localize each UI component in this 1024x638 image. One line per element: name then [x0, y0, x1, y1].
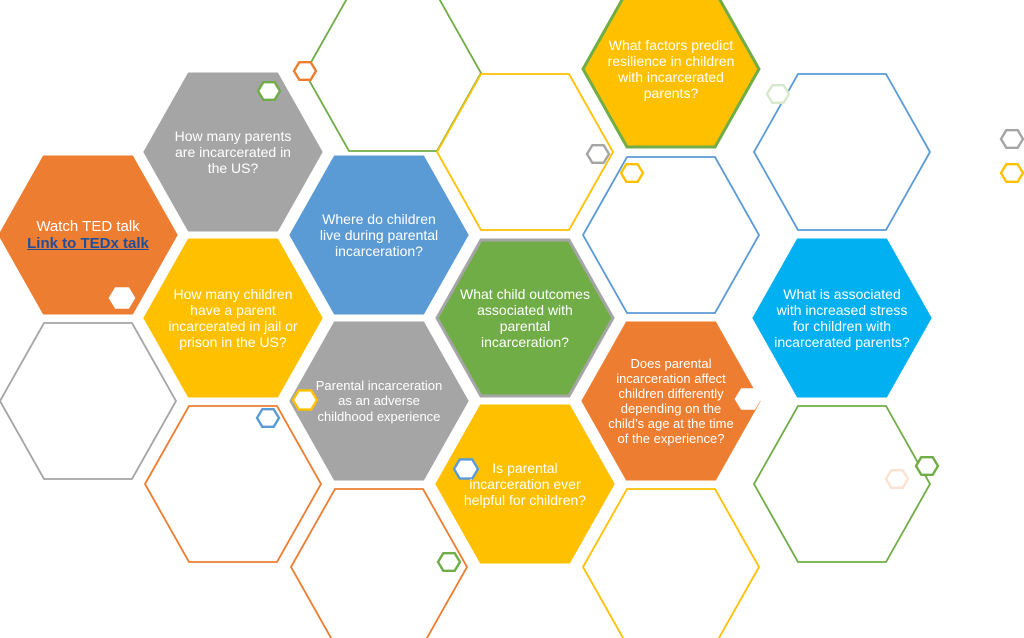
marker-white-on-orange-hex[interactable]	[110, 288, 134, 307]
hexagon-diagram-canvas: Watch TED talkLink to TEDx talkHow many …	[0, 0, 1024, 638]
marker-orange-top-left[interactable]	[294, 62, 316, 80]
marker-gold-upper-center[interactable]	[621, 164, 643, 182]
is-parental-incarceration-helpful-hex[interactable]	[437, 406, 613, 562]
empty-hex-gold-top-center[interactable]	[437, 74, 613, 230]
where-do-children-live-hex[interactable]	[291, 157, 467, 313]
does-parental-incarceration-age-hex[interactable]	[583, 323, 759, 479]
empty-hex-blue-upper[interactable]	[583, 157, 759, 313]
marker-gray-far-right[interactable]	[1001, 130, 1023, 148]
what-factors-predict-resilience-hex[interactable]	[583, 0, 759, 147]
tedx-talk-link[interactable]: Link to TEDx talk	[19, 235, 156, 252]
what-child-outcomes-hex[interactable]	[437, 240, 613, 396]
marker-faint-green-upper-right[interactable]	[767, 85, 789, 103]
how-many-children-hex[interactable]	[145, 240, 321, 396]
marker-green-on-gray-hex[interactable]	[258, 82, 280, 100]
marker-green-right-edge[interactable]	[916, 457, 938, 475]
empty-hex-orange-lower-left[interactable]	[145, 406, 321, 562]
marker-blue-on-gold-hex[interactable]	[454, 459, 478, 478]
marker-white-on-orange-right-hex[interactable]	[736, 389, 760, 408]
marker-gray-top-center[interactable]	[587, 145, 609, 163]
what-is-associated-stress-hex[interactable]	[754, 240, 930, 396]
marker-gold-on-gray-hex[interactable]	[293, 390, 317, 409]
empty-hex-gold-bottom[interactable]	[583, 489, 759, 638]
marker-gold-far-right[interactable]	[1001, 164, 1023, 182]
marker-green-bottom-center[interactable]	[438, 553, 460, 571]
marker-blue-lower-left[interactable]	[257, 409, 279, 427]
empty-hex-green-top[interactable]	[305, 0, 481, 151]
how-many-parents-hex[interactable]	[145, 74, 321, 230]
marker-faint-orange-lower-right[interactable]	[886, 470, 908, 488]
empty-hex-gray-left[interactable]	[0, 323, 176, 479]
hexagon-map-svg	[0, 0, 1024, 638]
